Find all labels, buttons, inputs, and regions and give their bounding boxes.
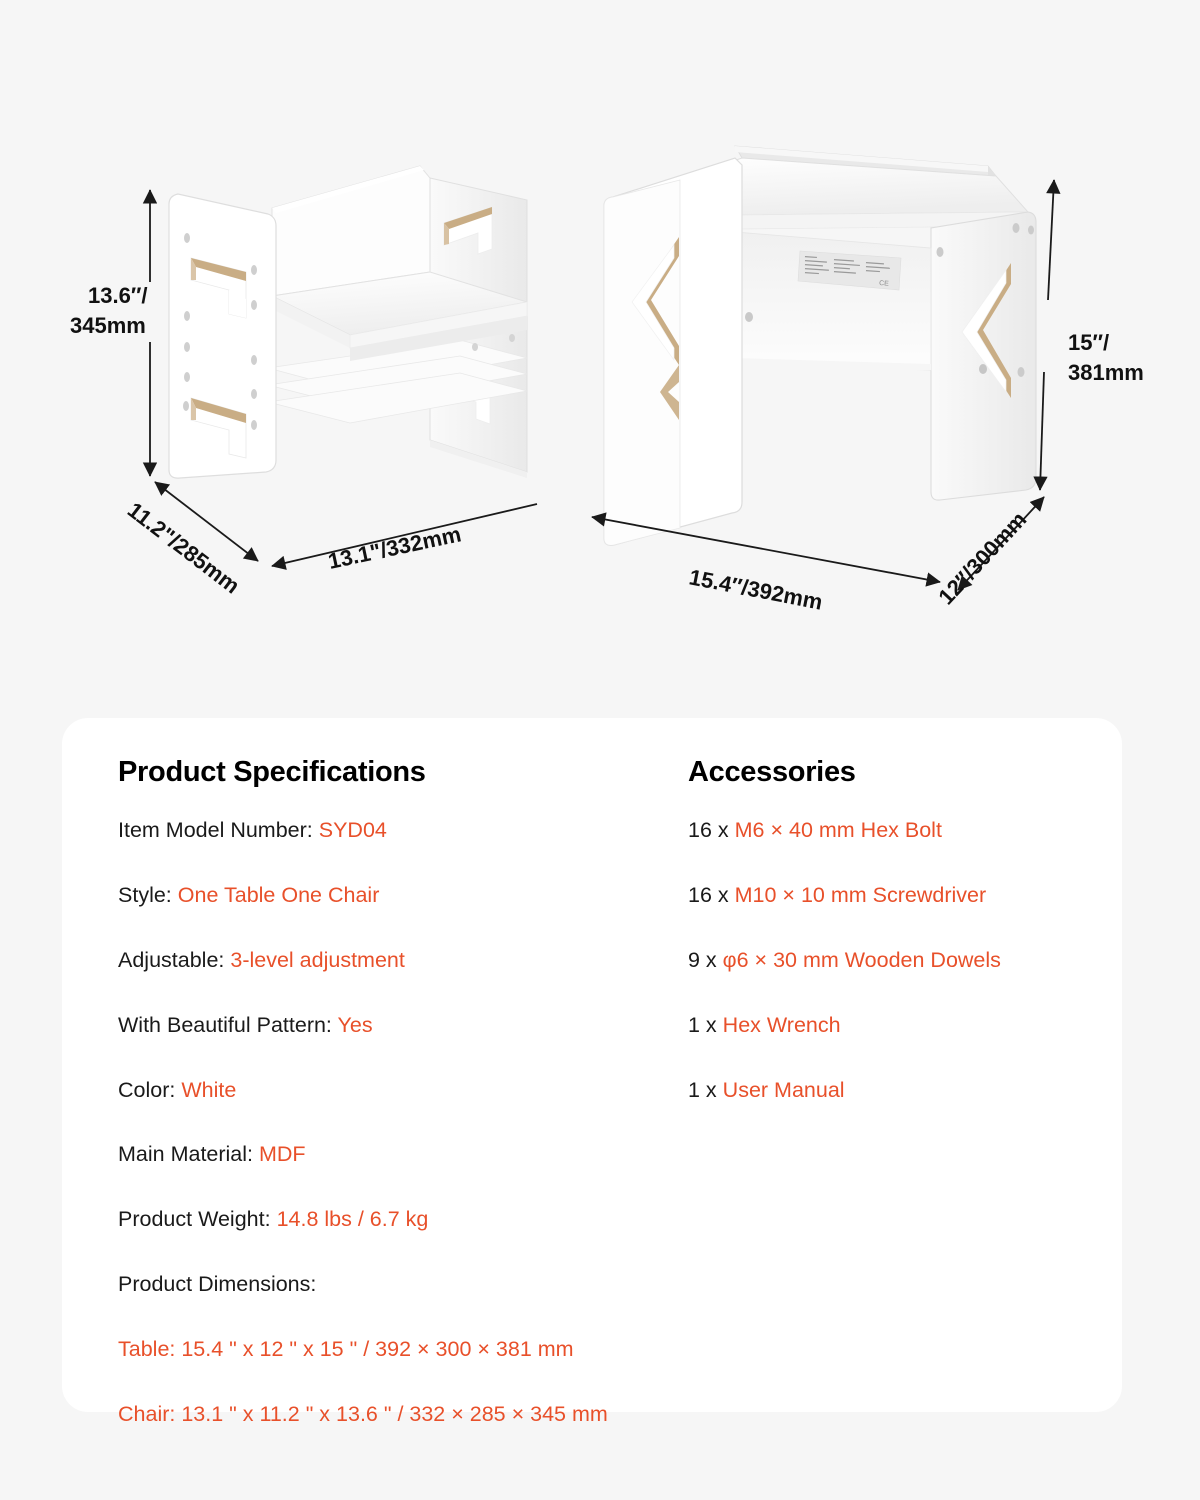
table-height-dimension (1040, 180, 1054, 490)
table-width-dimension (592, 517, 940, 582)
table-depth-label: 12″/300mm (933, 507, 1031, 610)
spec-value: One Table One Chair (178, 883, 380, 907)
spec-label: With Beautiful Pattern: (118, 1013, 332, 1037)
accessory-name: User Manual (723, 1078, 845, 1102)
specification-card: Product Specifications Item Model Number… (62, 718, 1122, 1412)
accessory-quantity: 16 x (688, 883, 729, 907)
spec-row: Product Weight: 14.8 lbs / 6.7 kg (118, 1206, 678, 1233)
product-diagram-area: 13.6″/ 345mm 11.2"/285mm 13.1"/332mm (0, 0, 1200, 700)
accessory-item: 16 x M6 × 40 mm Hex Bolt (688, 817, 1108, 844)
accessory-name: M6 × 40 mm Hex Bolt (735, 818, 942, 842)
accessories-column: Accessories 16 x M6 × 40 mm Hex Bolt 16 … (688, 756, 1108, 1103)
accessory-quantity: 1 x (688, 1013, 717, 1037)
table-height-label-line1: 15″/ (1068, 330, 1109, 355)
accessory-item: 1 x User Manual (688, 1077, 1108, 1104)
table-dimensions-row: Table: 15.4 " x 12 " x 15 " / 392 × 300 … (118, 1336, 678, 1363)
spec-row: Adjustable: 3-level adjustment (118, 947, 678, 974)
spec-label: Product Dimensions: (118, 1272, 316, 1296)
spec-row: Style: One Table One Chair (118, 882, 678, 909)
accessory-item: 9 x φ6 × 30 mm Wooden Dowels (688, 947, 1108, 974)
spec-value: SYD04 (319, 818, 387, 842)
accessories-heading: Accessories (688, 756, 1108, 789)
accessory-item: 16 x M10 × 10 mm Screwdriver (688, 882, 1108, 909)
chair-height-label-line2: 345mm (70, 313, 146, 338)
chair-depth-label: 11.2"/285mm (123, 497, 245, 598)
ce-mark-icon: CE (879, 280, 890, 288)
spec-label: Main Material: (118, 1142, 253, 1166)
table-width-label: 15.4″/392mm (687, 564, 825, 614)
product-diagram-svg: 13.6″/ 345mm 11.2"/285mm 13.1"/332mm (0, 0, 1200, 700)
spec-row: Product Dimensions: (118, 1271, 678, 1298)
product-specifications-heading: Product Specifications (118, 756, 678, 789)
accessory-quantity: 1 x (688, 1078, 717, 1102)
spec-label: Adjustable: (118, 948, 224, 972)
accessory-quantity: 9 x (688, 948, 717, 972)
spec-value: 3-level adjustment (230, 948, 404, 972)
spec-label: Color: (118, 1078, 175, 1102)
spec-row: Main Material: MDF (118, 1141, 678, 1168)
chair-illustration (169, 166, 527, 478)
spec-row: Item Model Number: SYD04 (118, 817, 678, 844)
spec-label: Item Model Number: (118, 818, 313, 842)
chair-dimensions-row: Chair: 13.1 " x 11.2 " x 13.6 " / 332 × … (118, 1401, 678, 1428)
spec-row: With Beautiful Pattern: Yes (118, 1012, 678, 1039)
accessory-name: M10 × 10 mm Screwdriver (735, 883, 987, 907)
accessory-item: 1 x Hex Wrench (688, 1012, 1108, 1039)
spec-label: Product Weight: (118, 1207, 271, 1231)
accessory-quantity: 16 x (688, 818, 729, 842)
table-illustration: CE (604, 146, 1036, 545)
spec-value: MDF (259, 1142, 306, 1166)
table-height-label-line2: 381mm (1068, 360, 1144, 385)
product-specifications-column: Product Specifications Item Model Number… (118, 756, 678, 1428)
spec-label: Style: (118, 883, 172, 907)
accessory-name: φ6 × 30 mm Wooden Dowels (723, 948, 1001, 972)
spec-value: 14.8 lbs / 6.7 kg (277, 1207, 429, 1231)
accessory-name: Hex Wrench (723, 1013, 841, 1037)
spec-value: Yes (338, 1013, 373, 1037)
spec-value: White (181, 1078, 236, 1102)
chair-width-label: 13.1"/332mm (326, 521, 463, 574)
spec-row: Color: White (118, 1077, 678, 1104)
chair-height-label-line1: 13.6″/ (88, 283, 147, 308)
